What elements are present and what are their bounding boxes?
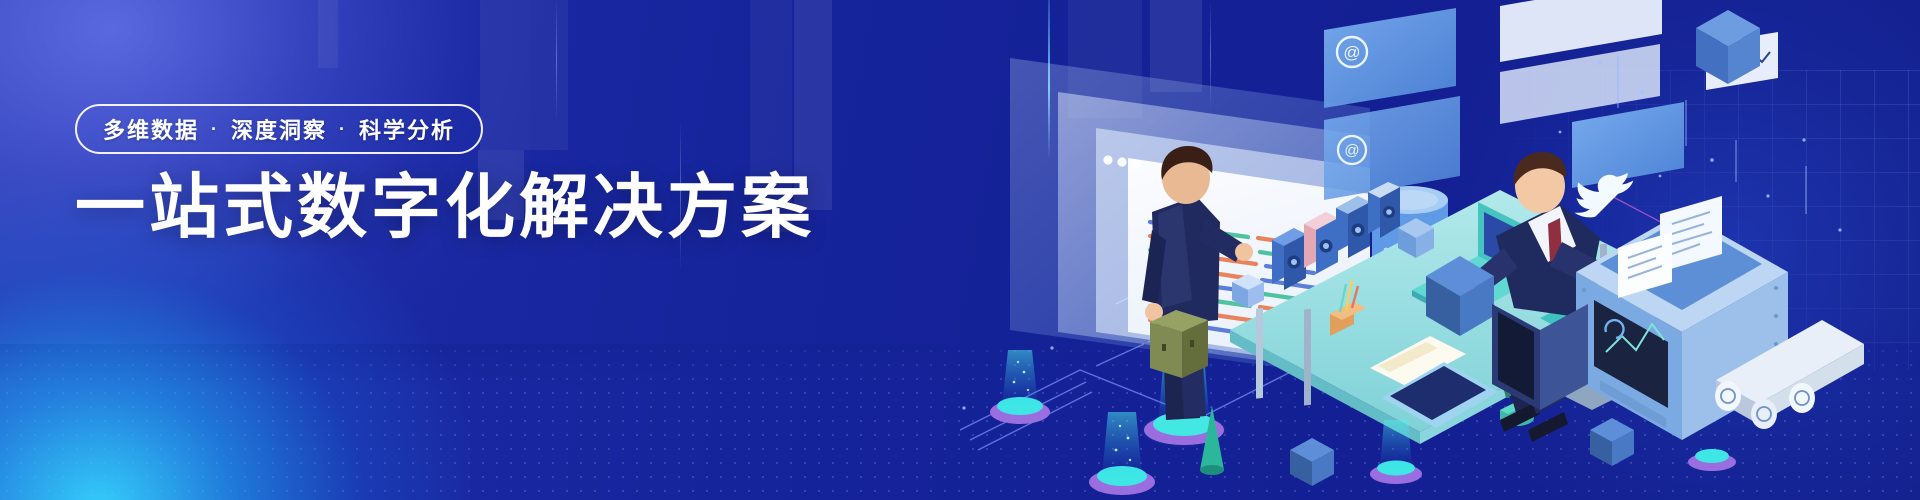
svg-text:@: @ bbox=[1344, 142, 1359, 159]
desk-leg bbox=[1304, 309, 1311, 406]
tagline-item-2: 深度洞察 bbox=[231, 113, 327, 145]
output-cylinder bbox=[1715, 381, 1741, 411]
glow-pedestal bbox=[1688, 449, 1736, 471]
hero-banner: 多维数据 · 深度洞察 · 科学分析 一站式数字化解决方案 bbox=[0, 0, 1920, 500]
window-dot-yellow bbox=[1117, 157, 1126, 166]
document-card-top bbox=[1500, 0, 1662, 124]
decorative-slab bbox=[318, 0, 338, 68]
tagline-item-3: 科学分析 bbox=[359, 113, 455, 145]
hand bbox=[1235, 243, 1253, 261]
tagline-item-1: 多维数据 bbox=[103, 113, 199, 145]
twitter-card bbox=[1572, 102, 1684, 217]
light-streak bbox=[556, 0, 557, 120]
email-card: @ bbox=[1324, 8, 1456, 108]
tagline-pill: 多维数据 · 深度洞察 · 科学分析 bbox=[75, 104, 483, 154]
output-cylinder bbox=[1789, 383, 1815, 413]
floating-cube bbox=[1590, 418, 1634, 466]
briefcase bbox=[1150, 310, 1208, 378]
tagline-separator: · bbox=[327, 119, 359, 140]
tagline-separator: · bbox=[199, 119, 231, 140]
page-title: 一站式数字化解决方案 bbox=[75, 172, 975, 242]
svg-text:@: @ bbox=[1343, 43, 1360, 62]
floating-cube bbox=[1290, 438, 1334, 486]
hero-copy: 多维数据 · 深度洞察 · 科学分析 一站式数字化解决方案 bbox=[75, 104, 975, 242]
window-dot-red bbox=[1103, 155, 1112, 164]
illustration: @ @ bbox=[900, 0, 1920, 500]
output-cylinder bbox=[1751, 399, 1777, 429]
desk-leg bbox=[1256, 308, 1263, 399]
window-dot-green bbox=[1131, 159, 1140, 168]
glow-pedestal bbox=[990, 350, 1050, 424]
